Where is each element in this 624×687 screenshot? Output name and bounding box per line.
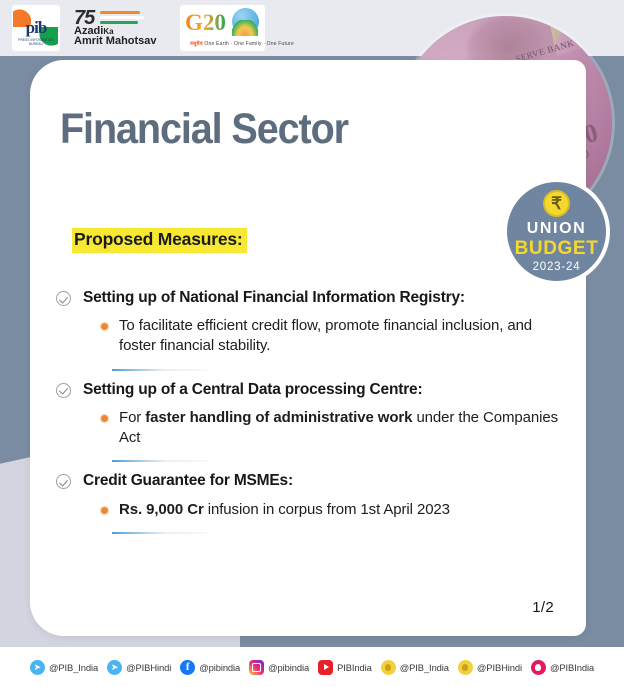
measure-detail-text: Rs. 9,000 Cr infusion in corpus from 1st… — [119, 500, 450, 520]
measure-detail-row: Rs. 9,000 Cr infusion in corpus from 1st… — [101, 500, 566, 520]
measure-detail-text: For faster handling of administrative wo… — [119, 408, 566, 448]
measure-title: Credit Guarantee for MSMEs: — [83, 471, 293, 491]
page-number: 1/2 — [532, 599, 554, 616]
amrit-mahotsav-text: Mahotsav — [106, 35, 157, 47]
section-divider — [112, 532, 207, 534]
social-handle: @pibindia — [268, 662, 309, 673]
measure-section: Setting up of National Financial Informa… — [56, 288, 566, 371]
badge-year-text: 2023-24 — [533, 261, 581, 273]
g20-subtext: वसुधैव One Earth · One Family · One Futu… — [190, 41, 294, 47]
bullet-dot-icon — [101, 507, 108, 514]
social-item-youtube[interactable]: PIBIndia — [318, 660, 372, 675]
measure-title: Setting up of a Central Data processing … — [83, 380, 422, 400]
social-item-instagram[interactable]: @pibindia — [249, 660, 309, 675]
measure-section: Setting up of a Central Data processing … — [56, 380, 566, 463]
detail-bold: faster handling of administrative work — [145, 409, 412, 426]
check-circle-icon — [56, 383, 71, 398]
social-handle: PIBIndia — [337, 662, 372, 673]
measure-detail-row: To facilitate efficient credit flow, pro… — [101, 316, 566, 356]
koo-icon — [458, 660, 473, 675]
social-handle: @PIBHindi — [126, 662, 171, 673]
g20-subtext-english: One Earth · One Family · One Future — [204, 41, 294, 47]
youtube-icon — [318, 660, 333, 675]
koo-icon — [381, 660, 396, 675]
g20-text: G20 — [185, 10, 226, 36]
union-budget-badge: ₹ UNION BUDGET 2023-24 — [503, 178, 610, 285]
bullet-dot-icon — [101, 415, 108, 422]
detail-prefix: For — [119, 409, 145, 426]
detail-bold: Rs. 9,000 Cr — [119, 501, 204, 518]
section-divider — [112, 369, 207, 371]
content-card: Financial Sector Proposed Measures: Sett… — [30, 60, 586, 636]
rupee-coin-icon: ₹ — [543, 190, 570, 217]
social-item-facebook[interactable]: f @pibindia — [180, 660, 240, 675]
social-handle: @PIBHindi — [477, 662, 522, 673]
twitter-icon: ➤ — [107, 660, 122, 675]
social-handle: @PIB_India — [400, 662, 449, 673]
measures-list: Setting up of National Financial Informa… — [56, 288, 566, 543]
measure-section: Credit Guarantee for MSMEs: Rs. 9,000 Cr… — [56, 471, 566, 534]
logo-row: pib PRESS INFORMATION BUREAU 75 AzadiKa … — [0, 0, 624, 56]
badge-budget-text: BUDGET — [515, 239, 599, 259]
g20-lotus-icon — [232, 20, 258, 36]
pib-logo: pib PRESS INFORMATION BUREAU — [12, 5, 60, 51]
social-item-koo-pib-india[interactable]: @PIB_India — [381, 660, 449, 675]
measure-title: Setting up of National Financial Informa… — [83, 288, 465, 308]
check-circle-icon — [56, 474, 71, 489]
social-item-twitter-pib-hindi[interactable]: ➤ @PIBHindi — [107, 660, 171, 675]
g20-logo: G20 वसुधैव One Earth · One Family · One … — [180, 5, 265, 51]
social-handle: @pibindia — [199, 662, 240, 673]
social-footer: ➤ @PIB_India ➤ @PIBHindi f @pibindia @pi… — [0, 647, 624, 687]
pib-logo-subtext: PRESS INFORMATION BUREAU — [12, 38, 60, 46]
detail-prefix: To facilitate efficient credit flow, pro… — [119, 317, 532, 354]
facebook-icon: f — [180, 660, 195, 675]
check-circle-icon — [56, 291, 71, 306]
measure-header: Setting up of a Central Data processing … — [56, 380, 566, 400]
pib-logo-text: pib — [26, 18, 47, 38]
instagram-icon — [249, 660, 264, 675]
proposed-measures-wrap: Proposed Measures: — [72, 228, 247, 253]
measure-detail-row: For faster handling of administrative wo… — [101, 408, 566, 448]
social-handle: @PIBIndia — [550, 662, 594, 673]
badge-union-text: UNION — [527, 220, 587, 238]
sharechat-icon — [531, 660, 546, 675]
social-item-twitter-pib-india[interactable]: ➤ @PIB_India — [30, 660, 98, 675]
measure-header: Credit Guarantee for MSMEs: — [56, 471, 566, 491]
g20-subtext-hindi: वसुधैव — [190, 41, 203, 47]
amrit-flag-icon — [96, 8, 144, 28]
bullet-dot-icon — [101, 323, 108, 330]
detail-suffix: infusion in corpus from 1st April 2023 — [204, 501, 450, 518]
social-item-sharechat[interactable]: @PIBIndia — [531, 660, 594, 675]
page-title: Financial Sector — [60, 108, 348, 151]
amrit-line-2: Amrit Mahotsav — [74, 36, 166, 48]
azadi-ka-amrit-mahotsav-logo: 75 AzadiKa Amrit Mahotsav — [74, 8, 166, 47]
measure-header: Setting up of National Financial Informa… — [56, 288, 566, 308]
social-handle: @PIB_India — [49, 662, 98, 673]
amrit-amrit-text: Amrit — [74, 35, 103, 47]
measure-detail-text: To facilitate efficient credit flow, pro… — [119, 316, 566, 356]
social-item-koo-pib-hindi[interactable]: @PIBHindi — [458, 660, 522, 675]
proposed-measures-heading: Proposed Measures: — [72, 228, 247, 253]
twitter-icon: ➤ — [30, 660, 45, 675]
section-divider — [112, 460, 207, 462]
